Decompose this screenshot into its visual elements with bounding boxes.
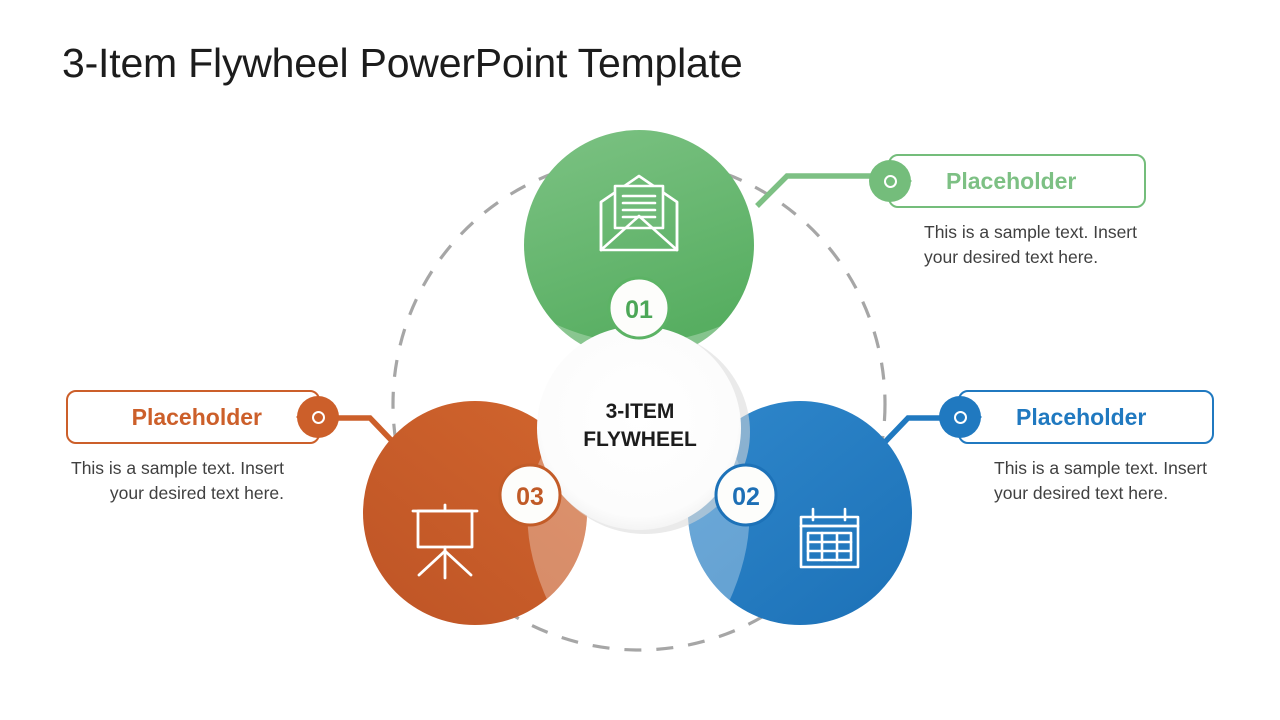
callout-2-description: This is a sample text. Insert your desir… — [958, 456, 1214, 506]
slide-canvas: 3-Item Flywheel PowerPoint Template — [0, 0, 1280, 720]
callout-2-pill[interactable]: Placeholder — [958, 390, 1214, 444]
callout-1-description: This is a sample text. Insert your desir… — [888, 220, 1146, 270]
number-badge-1[interactable]: 01 — [609, 278, 669, 338]
flywheel-diagram: 01 02 03 — [0, 0, 1280, 720]
callout-2-title: Placeholder — [960, 404, 1146, 431]
callout-1-title: Placeholder — [890, 168, 1076, 195]
number-badge-1-text: 01 — [625, 296, 653, 324]
number-badge-2-text: 02 — [732, 483, 760, 511]
number-badge-2[interactable]: 02 — [716, 465, 776, 525]
callout-3-title: Placeholder — [132, 404, 318, 431]
callout-2-ring-icon — [954, 411, 967, 424]
callout-3-notch-icon — [296, 406, 309, 428]
callout-3-description: This is a sample text. Insert your desir… — [66, 456, 320, 506]
callout-3: Placeholder This is a sample text. Inser… — [66, 390, 320, 506]
number-badge-3-text: 03 — [516, 483, 544, 511]
callout-3-pill[interactable]: Placeholder — [66, 390, 320, 444]
callout-1: Placeholder This is a sample text. Inser… — [888, 154, 1146, 270]
callout-1-notch-icon — [899, 170, 912, 192]
callout-1-pill[interactable]: Placeholder — [888, 154, 1146, 208]
callout-2: Placeholder This is a sample text. Inser… — [958, 390, 1214, 506]
callout-1-ring-icon — [884, 175, 897, 188]
callout-2-notch-icon — [969, 406, 982, 428]
number-badge-3[interactable]: 03 — [500, 465, 560, 525]
callout-3-ring-icon — [312, 411, 325, 424]
